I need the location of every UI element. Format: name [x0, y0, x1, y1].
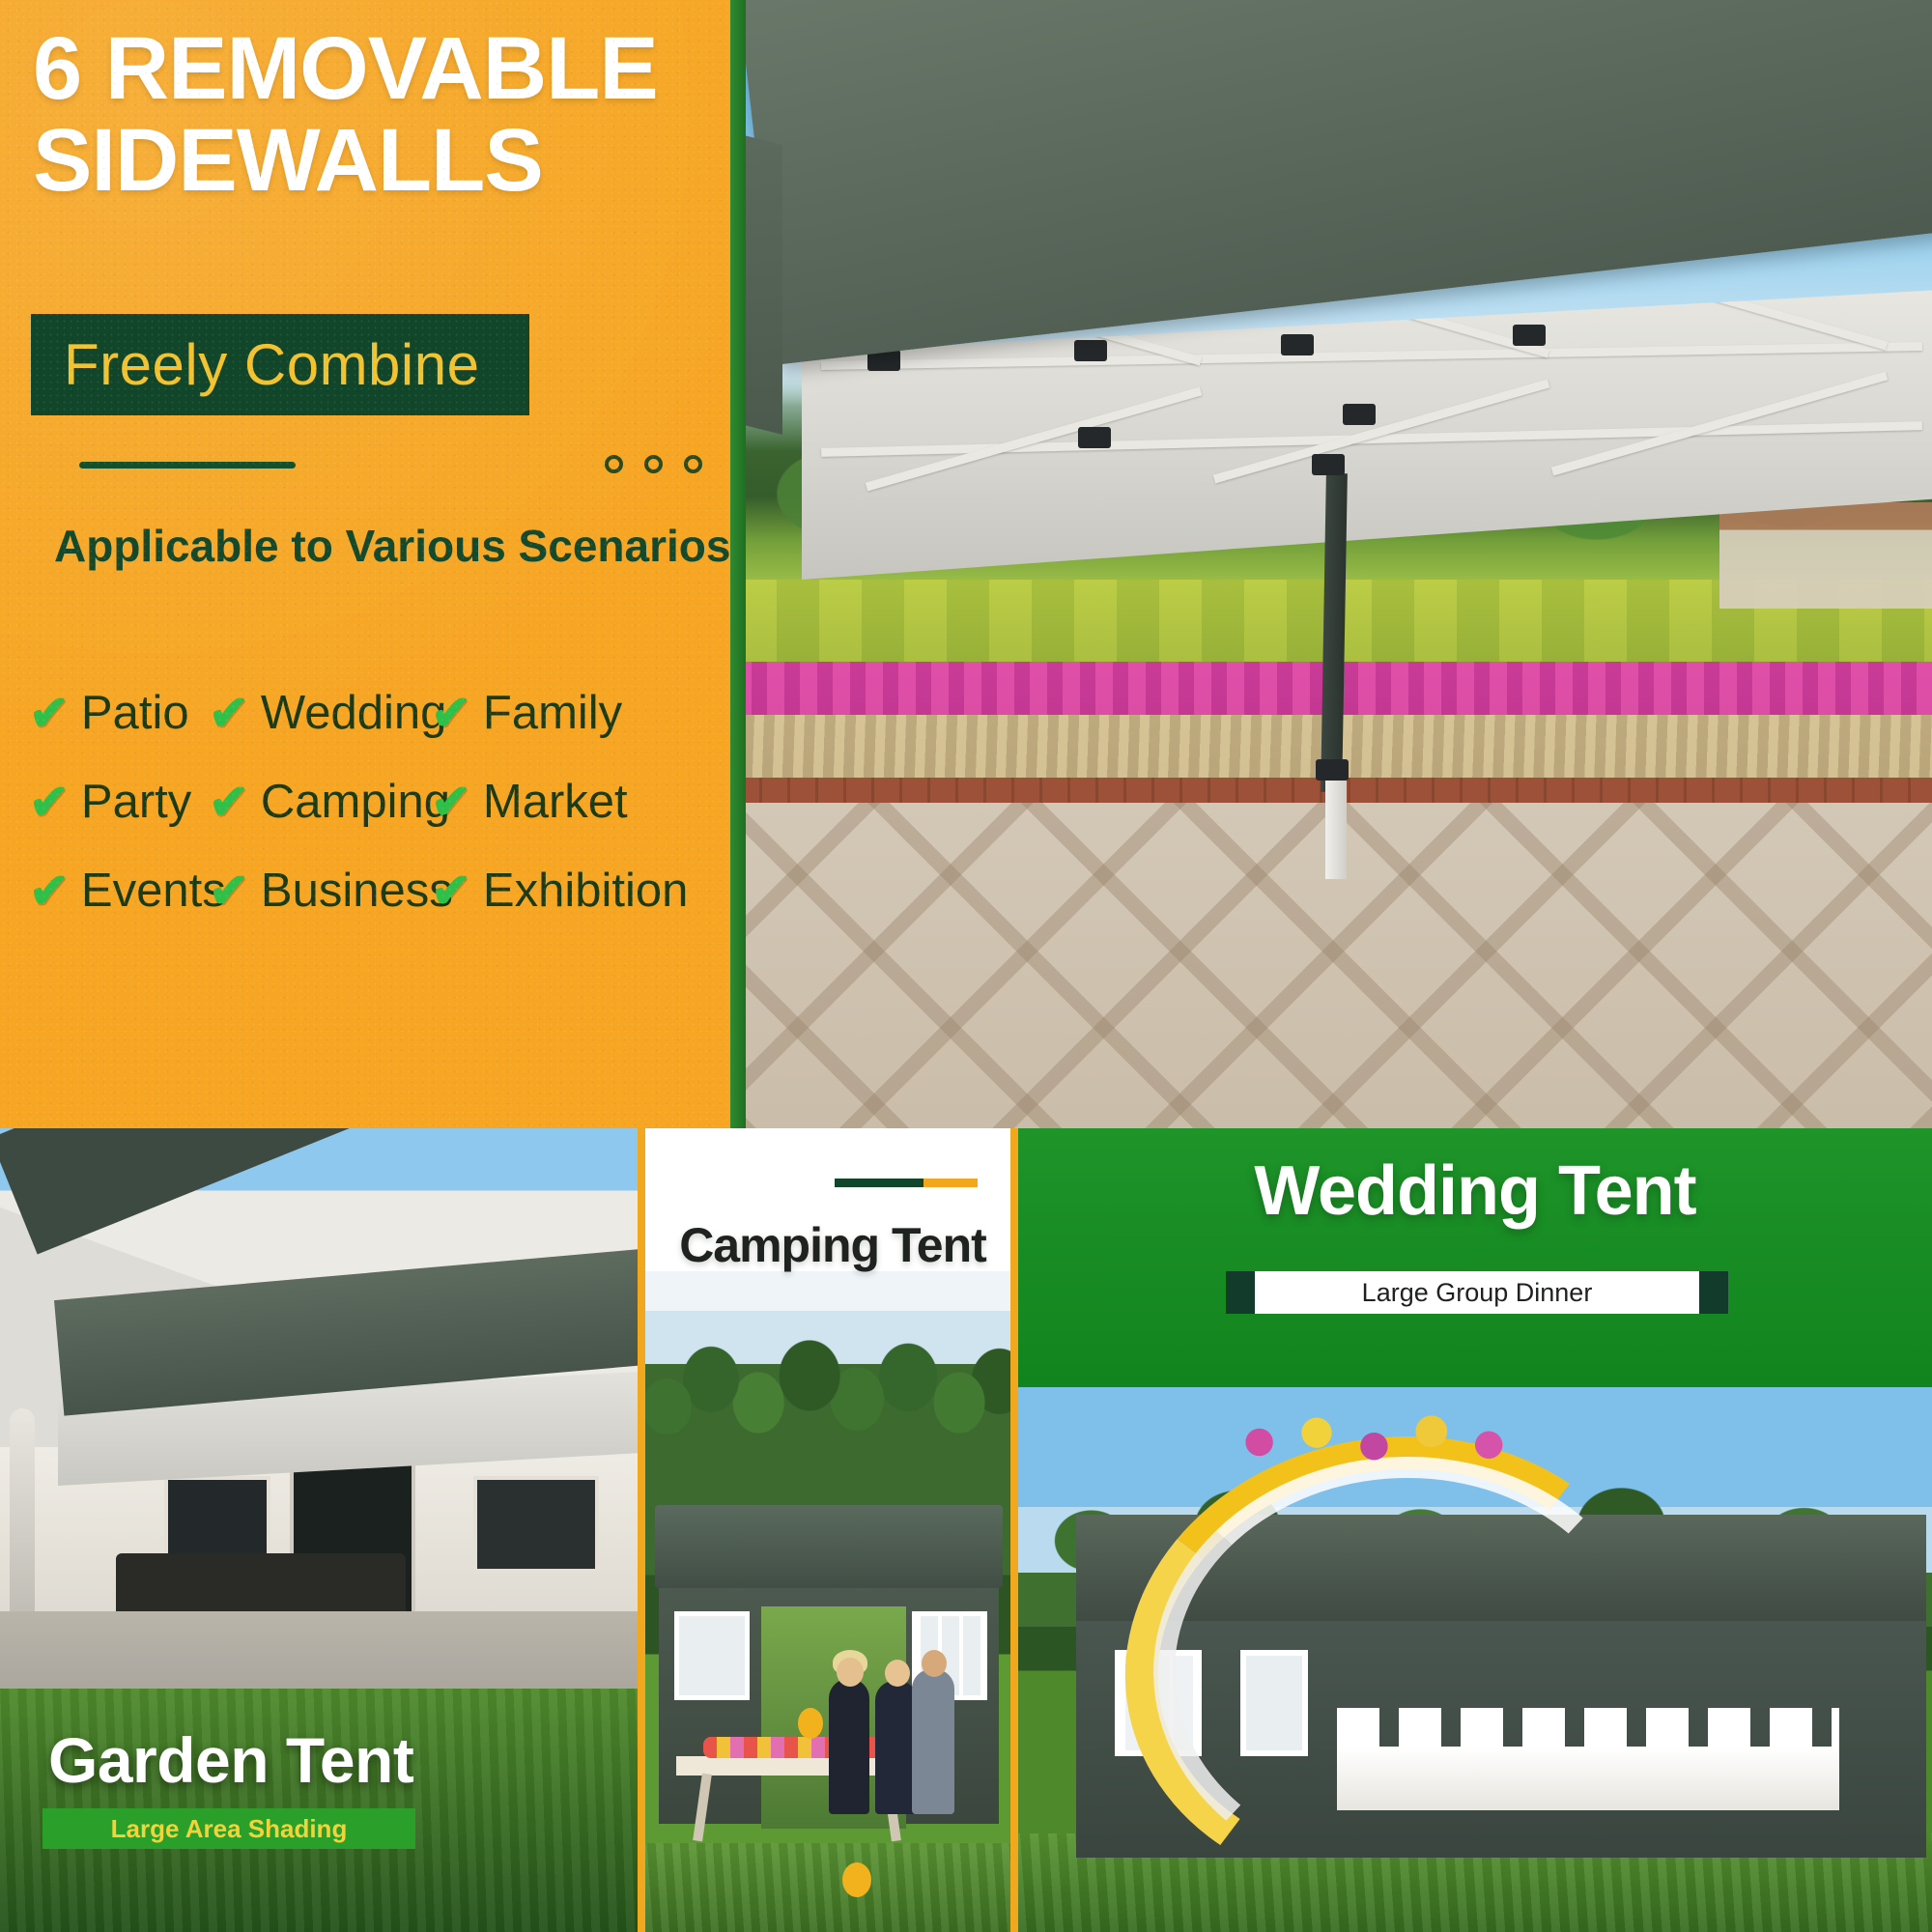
list-item: ✔ Camping [209, 775, 431, 829]
gallery-card-garden[interactable]: Garden Tent Large Area Shading [0, 1128, 638, 1932]
truss-bar [866, 387, 1203, 492]
usage-gallery: Garden Tent Large Area Shading [0, 1128, 1932, 1932]
list-item: ✔ Wedding [209, 686, 431, 740]
gallery-card-title: Garden Tent [48, 1723, 413, 1797]
check-icon: ✔ [29, 689, 70, 737]
frame-bracket [1074, 340, 1107, 361]
patio-umbrella [10, 1408, 35, 1631]
balloon [842, 1862, 871, 1897]
card-separator [1010, 1128, 1018, 1932]
gallery-card-subtitle-bar: Large Group Dinner [1255, 1271, 1699, 1314]
person-head [885, 1660, 910, 1687]
balloon [798, 1708, 823, 1739]
check-icon: ✔ [29, 867, 70, 915]
list-item-label: Exhibition [483, 864, 688, 918]
page-title: 6 REMOVABLE SIDEWALLS [33, 23, 728, 207]
frame-bracket [1078, 427, 1111, 448]
frame-bracket [1343, 404, 1376, 425]
check-icon: ✔ [209, 689, 249, 737]
product-infographic: 6 REMOVABLE SIDEWALLS Freely Combine App… [0, 0, 1932, 1932]
hero-section: 6 REMOVABLE SIDEWALLS Freely Combine App… [0, 0, 1932, 1128]
scenarios-title: Applicable to Various Scenarios [54, 520, 730, 572]
truss-bar [821, 342, 1922, 370]
gallery-card-subtitle: Large Area Shading [111, 1814, 348, 1844]
list-item: ✔ Events [29, 864, 209, 918]
canopy-leg-foot [1325, 763, 1347, 879]
list-item: ✔ Patio [29, 686, 209, 740]
window [473, 1476, 599, 1573]
list-item-label: Party [81, 775, 191, 829]
gallery-card-camping[interactable]: Camping Tent [645, 1128, 1010, 1932]
background-house [1719, 502, 1932, 609]
list-item: ✔ Exhibition [431, 864, 672, 918]
list-item-label: Family [483, 686, 622, 740]
list-item: ✔ Family [431, 686, 672, 740]
headline-panel: 6 REMOVABLE SIDEWALLS Freely Combine App… [0, 0, 746, 1128]
dot-icon [605, 455, 623, 473]
badge-freely-combine: Freely Combine [31, 314, 529, 415]
list-item-label: Business [261, 864, 453, 918]
dot-decoration [605, 455, 702, 473]
tree-line [645, 1291, 1010, 1484]
person-head [922, 1650, 947, 1677]
list-item-label: Wedding [261, 686, 447, 740]
arch-flowers [1221, 1408, 1540, 1476]
gallery-card-subtitle: Large Group Dinner [1362, 1278, 1593, 1308]
gallery-card-title: Wedding Tent [1018, 1151, 1932, 1231]
check-icon: ✔ [209, 867, 249, 915]
leg-bracket [1312, 454, 1345, 475]
headline-line-1: 6 REMOVABLE [33, 19, 658, 118]
badge-label: Freely Combine [31, 331, 480, 398]
canopy-roof [655, 1505, 1003, 1588]
gallery-card-subtitle-bar: Large Area Shading [43, 1808, 415, 1849]
list-item: ✔ Market [431, 775, 672, 829]
dot-icon [644, 455, 663, 473]
dot-icon [684, 455, 702, 473]
sidewall-window [674, 1611, 750, 1700]
gallery-card-header: Wedding Tent Large Group Dinner [1018, 1128, 1932, 1387]
headline-line-2: SIDEWALLS [33, 115, 728, 207]
lawn [645, 1843, 1010, 1932]
person [912, 1669, 954, 1814]
panel-green-edge [730, 0, 746, 1128]
check-icon: ✔ [431, 689, 471, 737]
list-item: ✔ Business [209, 864, 431, 918]
person-head [837, 1658, 864, 1687]
gallery-card-title: Camping Tent [655, 1217, 1010, 1273]
list-item-label: Camping [261, 775, 450, 829]
list-item: ✔ Party [29, 775, 209, 829]
check-icon: ✔ [431, 867, 471, 915]
list-item-label: Market [483, 775, 628, 829]
scenarios-list: ✔ Patio ✔ Wedding ✔ Family ✔ Party ✔ C [29, 686, 705, 918]
check-icon: ✔ [431, 778, 471, 826]
person [829, 1679, 869, 1814]
frame-bracket [1281, 334, 1314, 355]
list-item-label: Events [81, 864, 226, 918]
check-icon: ✔ [29, 778, 70, 826]
leg-bracket [1316, 759, 1349, 781]
list-item-label: Patio [81, 686, 189, 740]
frame-bracket [1513, 325, 1546, 346]
card-separator [638, 1128, 645, 1932]
divider-rule [835, 1179, 978, 1187]
divider-rule [79, 462, 296, 469]
gallery-card-wedding[interactable]: Wedding Tent Large Group Dinner [1018, 1128, 1932, 1932]
check-icon: ✔ [209, 778, 249, 826]
